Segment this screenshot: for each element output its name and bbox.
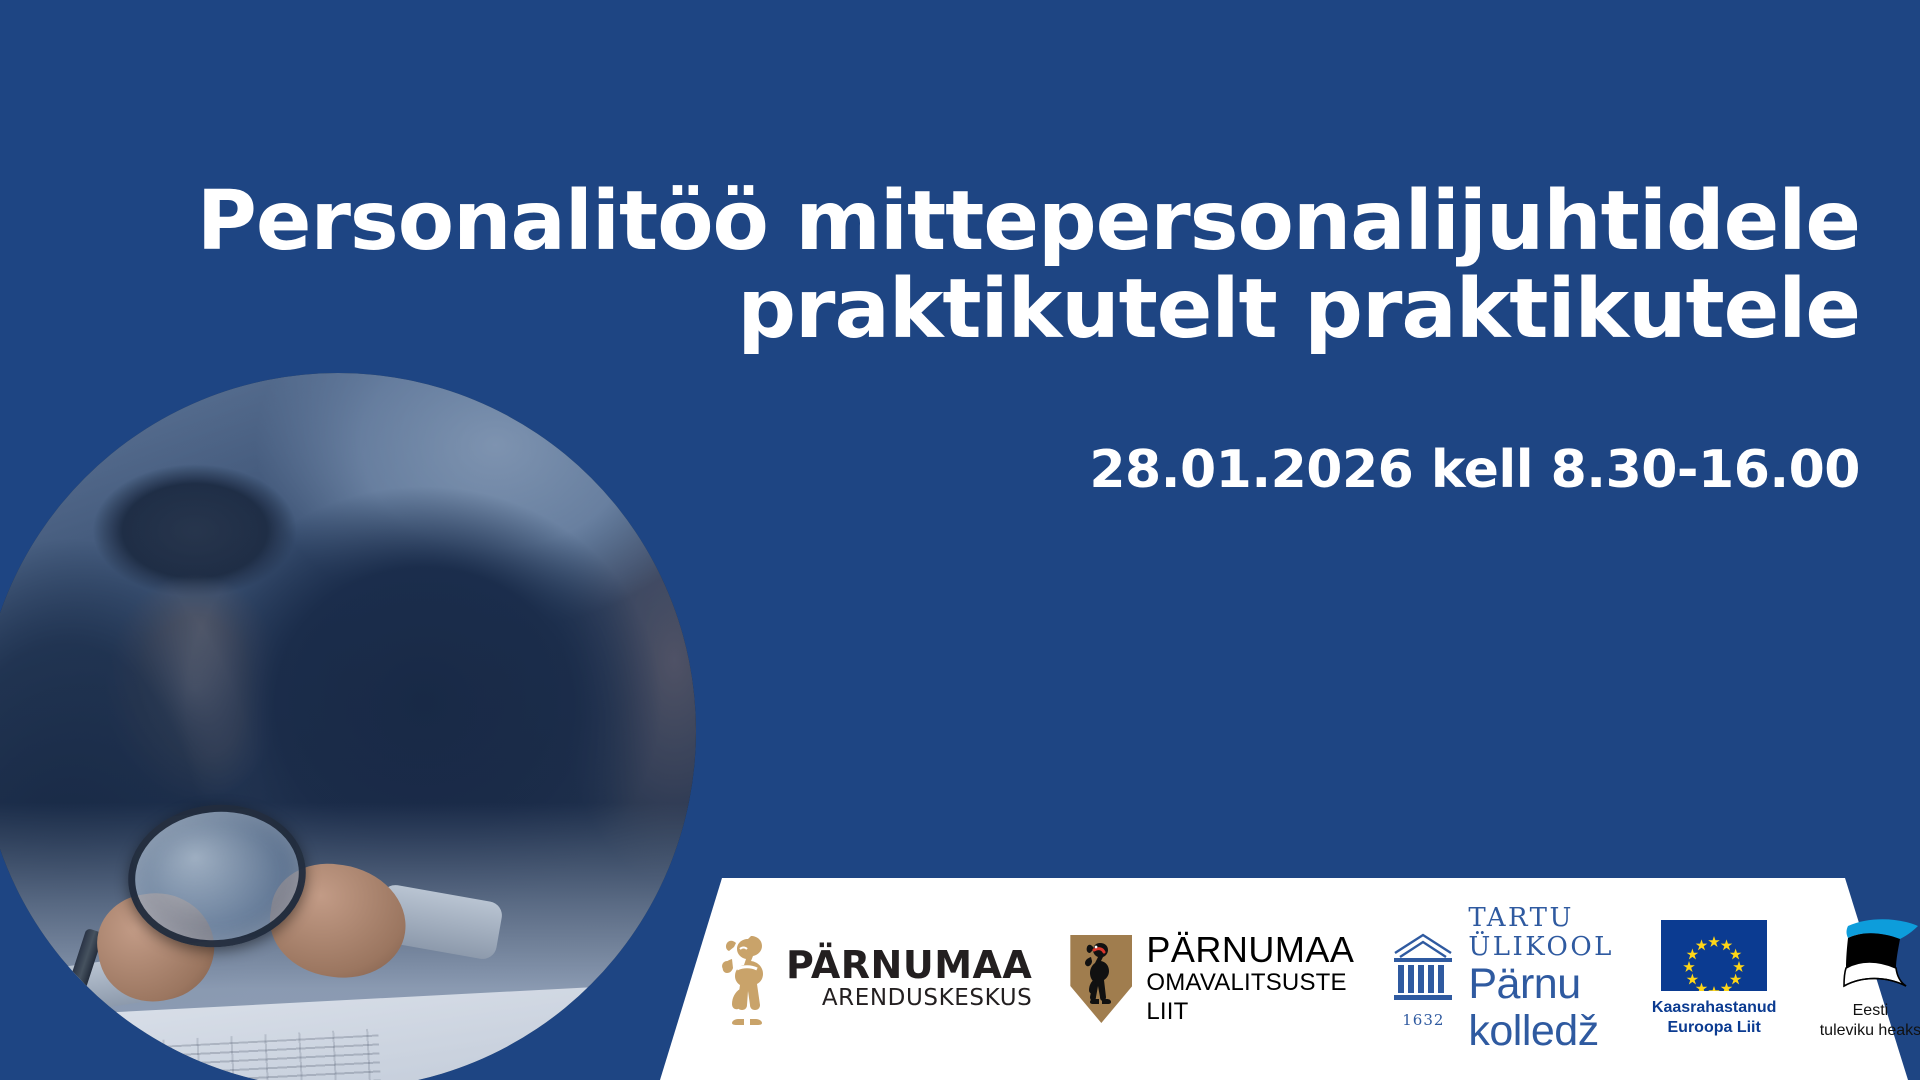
bear-shield-coat-of-arms-icon <box>1070 935 1132 1023</box>
logo-tartu-ulikool-line2: Pärnu kolledž <box>1468 961 1614 1054</box>
event-poster: Personalitöö mittepersonalijuhtidele pra… <box>0 0 1920 1080</box>
logo-tartu-ulikool-parnu-kolledz: 1632 TARTU ÜLIKOOL Pärnu kolledž <box>1392 904 1614 1054</box>
logo-eesti-tuleviku-heaks-line1: Eesti <box>1853 1002 1889 1019</box>
classical-building-icon: 1632 <box>1392 931 1454 1027</box>
logo-tartu-ulikool-line1: TARTU ÜLIKOOL <box>1468 904 1614 961</box>
logo-parnumaa-arenduskeskus-text: PÄRNUMAA ARENDUSKESKUS <box>786 946 1032 1013</box>
logo-eesti-tuleviku-heaks-line2: tuleviku heaks <box>1820 1022 1920 1039</box>
logo-parnumaa-arenduskeskus-line1: PÄRNUMAA <box>786 943 1032 987</box>
poster-date-time: 28.01.2026 kell 8.30-16.00 <box>60 440 1860 500</box>
eu-flag-icon <box>1661 920 1767 991</box>
logo-parnumaa-omavalitsuste-liit: PÄRNUMAA OMAVALITSUSTE LIIT <box>1070 931 1354 1026</box>
logo-eesti-tuleviku-heaks-caption: Eesti tuleviku heaks <box>1820 1001 1920 1041</box>
logo-parnumaa-omavalitsuste-liit-line1: PÄRNUMAA <box>1146 931 1354 969</box>
logo-euroopa-liit-line2: Euroopa Liit <box>1668 1019 1761 1036</box>
poster-headline: Personalitöö mittepersonalijuhtidele pra… <box>60 178 1860 353</box>
logo-parnumaa-omavalitsuste-liit-line2: OMAVALITSUSTE LIIT <box>1146 969 1354 1027</box>
logo-parnumaa-arenduskeskus-line2: ARENDUSKESKUS <box>786 984 1032 1013</box>
logo-eesti-tuleviku-heaks: Eesti tuleviku heaks <box>1814 918 1920 1041</box>
headline-line-2: praktikutelt praktikutele <box>60 266 1860 354</box>
estonian-flag-swoosh-icon <box>1814 918 1920 994</box>
logo-tartu-ulikool-year: 1632 <box>1392 1011 1454 1029</box>
partner-logo-row: PÄRNUMAA ARENDUSKESKUS <box>0 878 1920 1080</box>
logo-parnumaa-arenduskeskus: PÄRNUMAA ARENDUSKESKUS <box>718 933 1032 1025</box>
logo-tartu-ulikool-text: TARTU ÜLIKOOL Pärnu kolledž <box>1468 904 1614 1054</box>
logo-parnumaa-omavalitsuste-liit-text: PÄRNUMAA OMAVALITSUSTE LIIT <box>1146 931 1354 1026</box>
bear-mascot-icon <box>718 933 776 1025</box>
logo-euroopa-liit: Kaasrahastanud Euroopa Liit <box>1652 920 1777 1038</box>
logo-euroopa-liit-line1: Kaasrahastanud <box>1652 999 1777 1016</box>
logo-euroopa-liit-caption: Kaasrahastanud Euroopa Liit <box>1652 998 1777 1038</box>
headline-line-1: Personalitöö mittepersonalijuhtidele <box>60 178 1860 266</box>
